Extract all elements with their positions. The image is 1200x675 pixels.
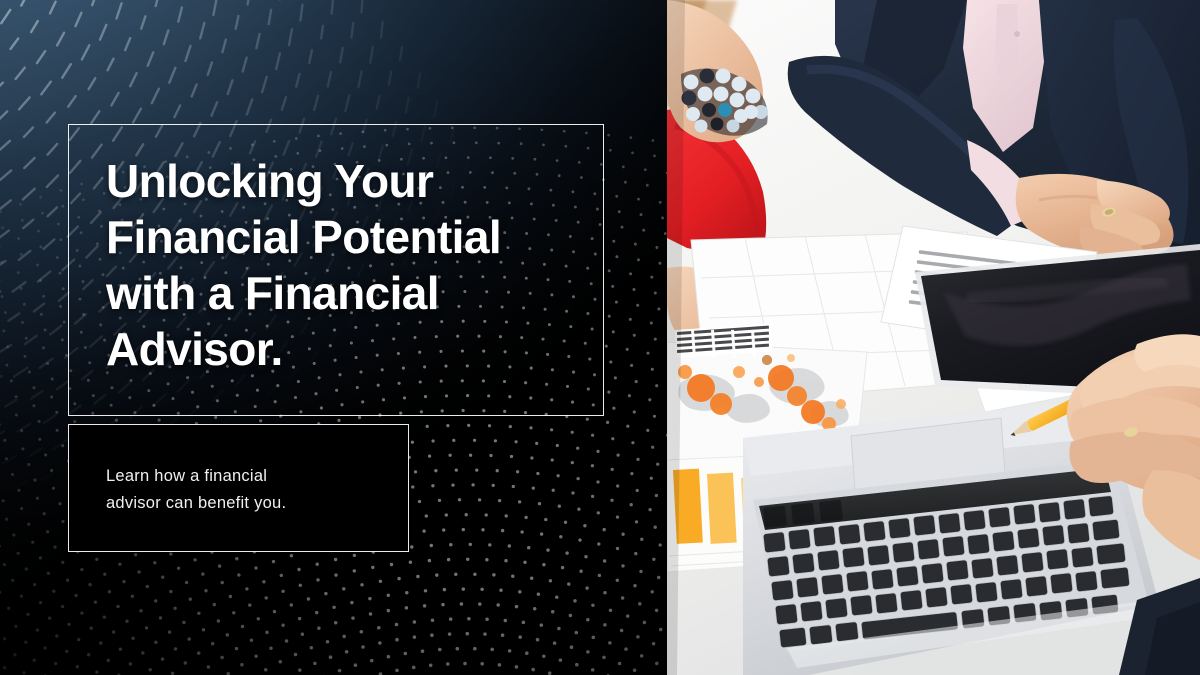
photo-panel: FINANCIAL [667,0,1200,675]
meeting-photo: FINANCIAL [667,0,1200,675]
subtitle-text: Learn how a financial advisor can benefi… [106,463,381,517]
subtitle-card: Learn how a financial advisor can benefi… [68,424,409,552]
page-title: Unlocking Your Financial Potential with … [106,153,576,377]
title-card: Unlocking Your Financial Potential with … [68,124,604,416]
marketing-banner: Unlocking Your Financial Potential with … [0,0,1200,675]
left-content-panel: Unlocking Your Financial Potential with … [0,0,667,675]
